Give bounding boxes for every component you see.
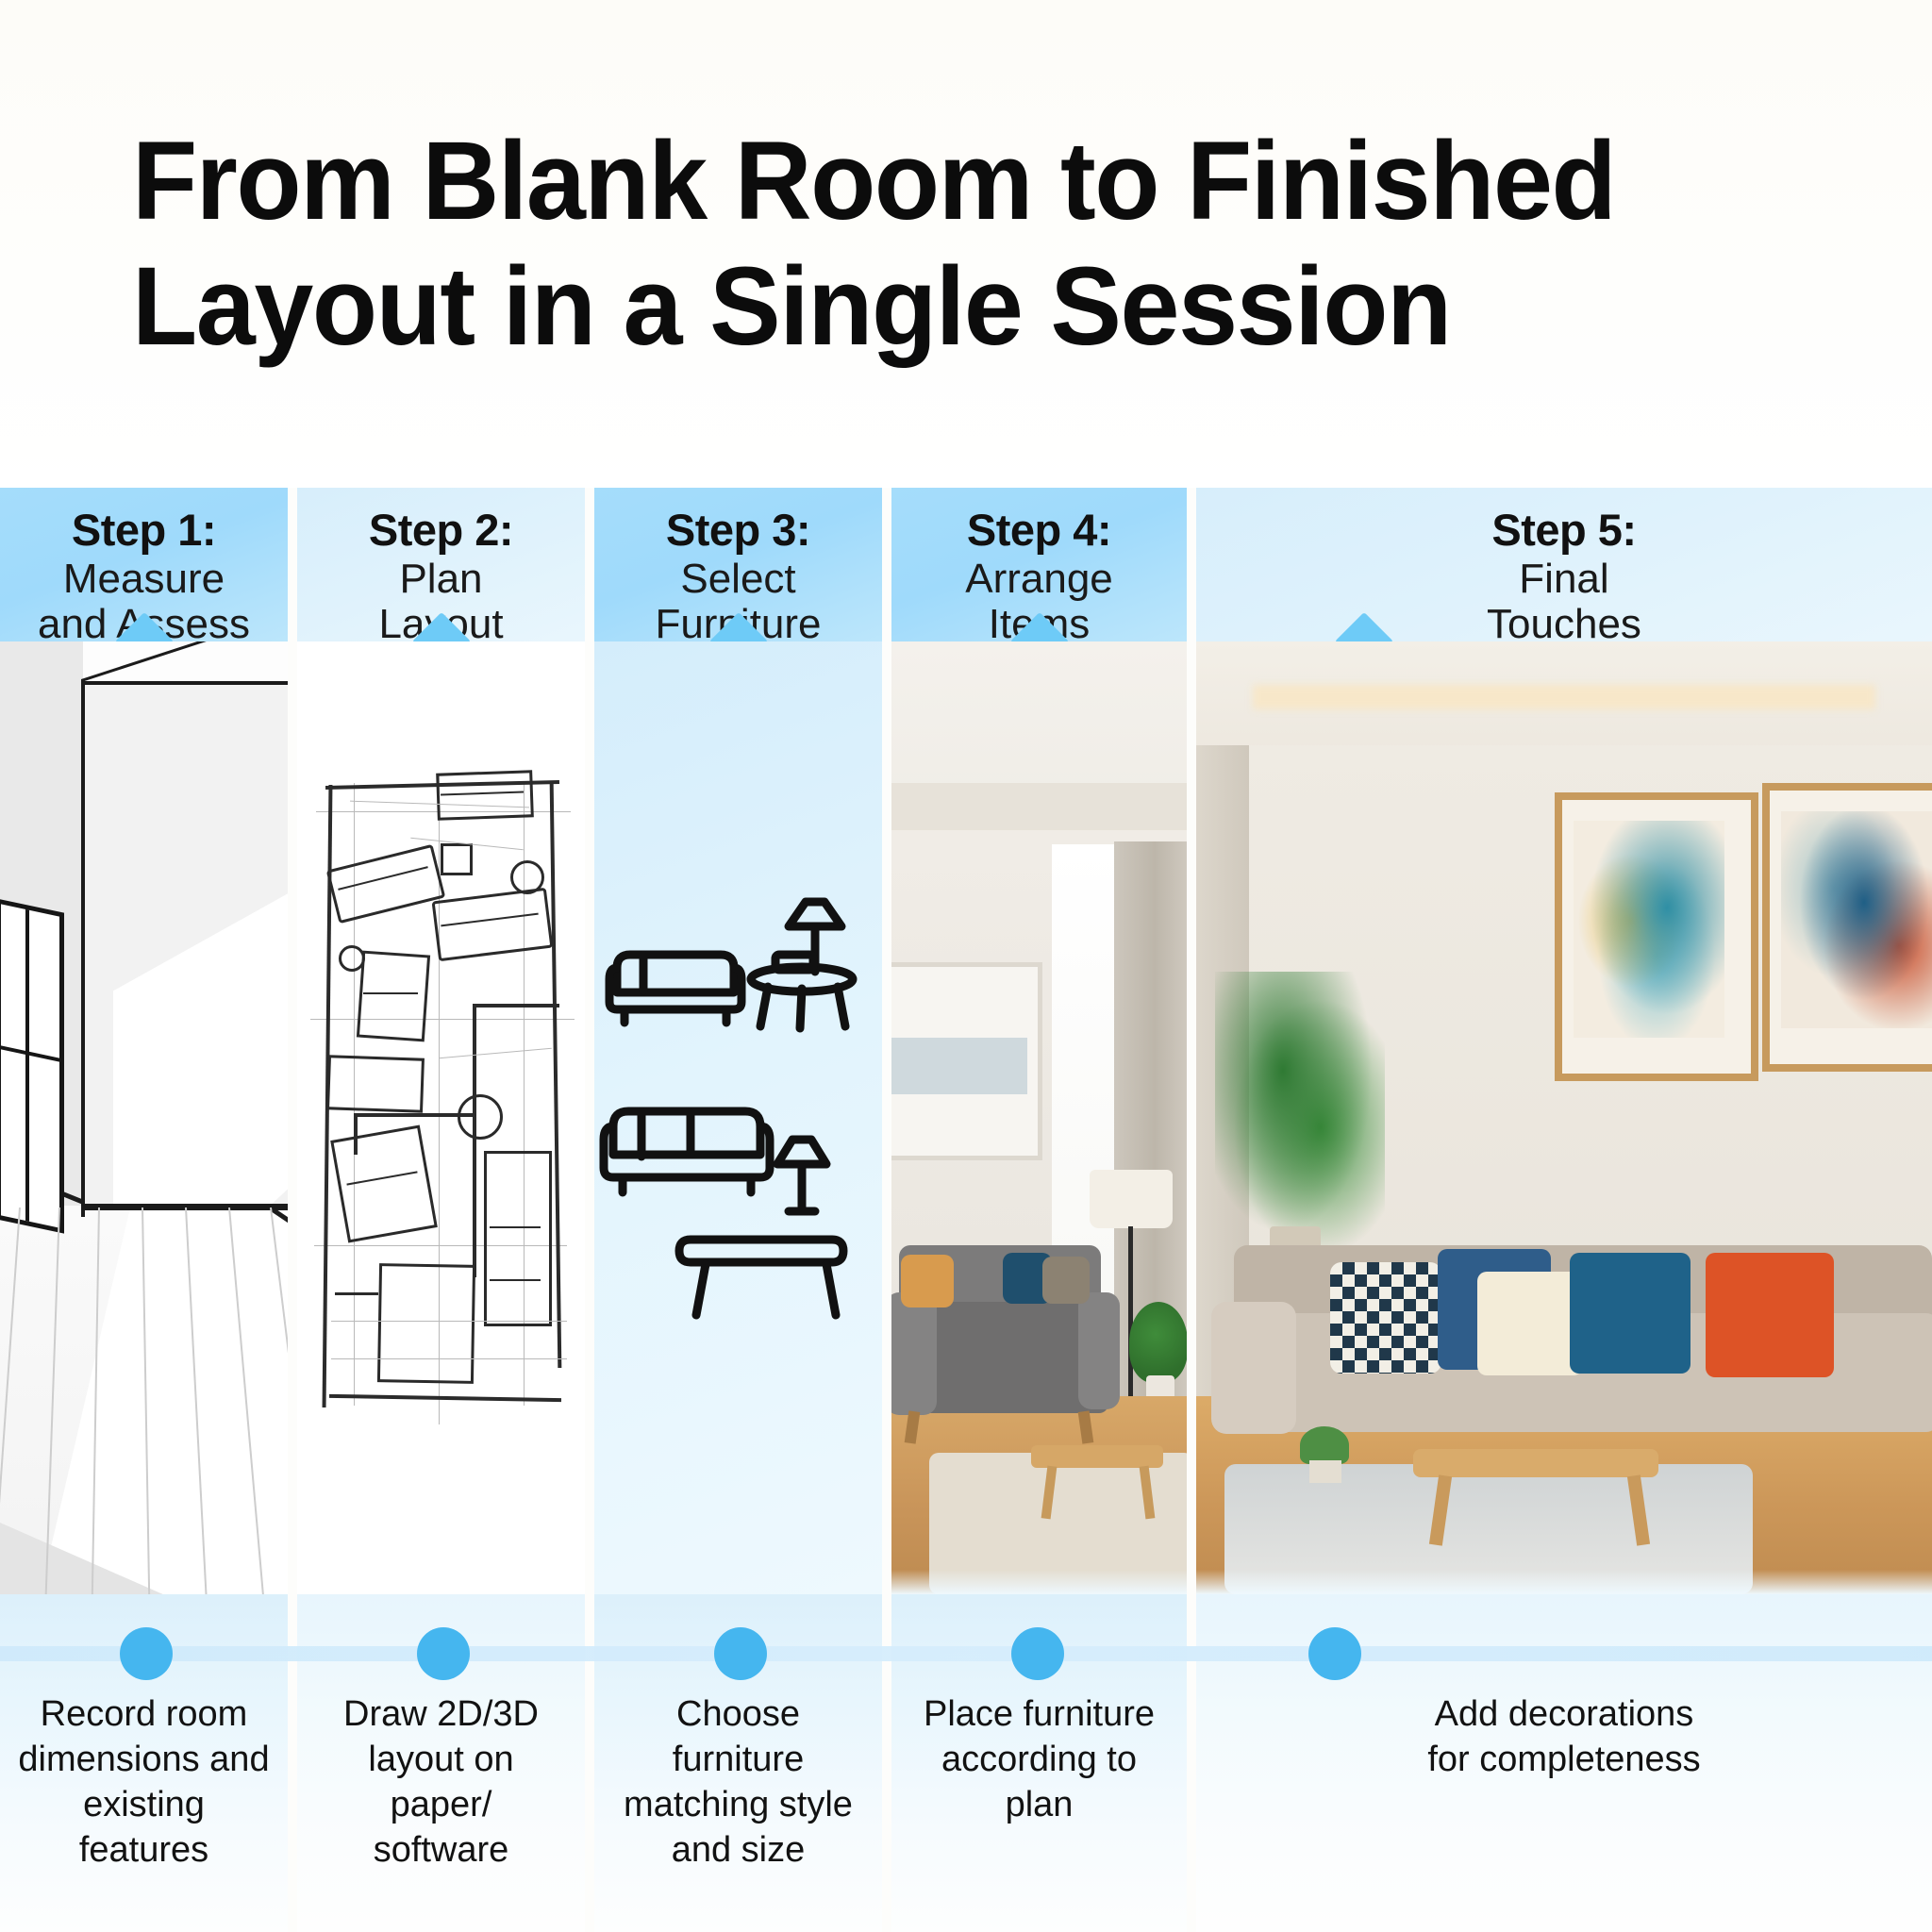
floor-plan-sketch	[297, 641, 585, 1594]
furniture-icons-svg	[594, 641, 882, 1594]
step-caption-band-5: Add decorations for completeness	[1196, 1594, 1932, 1932]
step-visual-5	[1196, 641, 1932, 1594]
timeline-dot-5[interactable]	[1308, 1627, 1361, 1680]
step-caption-2: Draw 2D/3D layout on paper/ software	[297, 1692, 585, 1874]
step-number-3: Step 3:	[666, 507, 810, 553]
furniture-icon-panel	[594, 641, 882, 1594]
infographic-root: From Blank Room to Finished Layout in a …	[0, 0, 1932, 1932]
sofa-icon	[609, 955, 741, 1023]
step-caption-1: Record room dimensions and existing feat…	[0, 1692, 288, 1874]
step-visual-3	[594, 641, 882, 1594]
window-icon	[0, 898, 64, 1233]
title-banner: From Blank Room to Finished Layout in a …	[0, 0, 1932, 488]
step-header-2: Step 2: Plan Layout	[297, 488, 585, 641]
step-header-1: Step 1: Measure and Assess	[0, 488, 288, 641]
step-number-5: Step 5:	[1491, 507, 1636, 553]
step-caption-5: Add decorations for completeness	[1196, 1692, 1932, 1783]
large-sofa-icon	[604, 1111, 770, 1192]
step-name-5: Final Touches	[1487, 557, 1641, 646]
step-number-2: Step 2:	[369, 507, 513, 553]
step-visual-1	[0, 641, 288, 1594]
step-number-4: Step 4:	[967, 507, 1111, 553]
step-caption-4: Place furniture according to plan	[891, 1692, 1187, 1828]
table-lamp-small-icon	[777, 1140, 826, 1211]
step-header-5: Step 5: Final Touches	[1196, 488, 1932, 641]
step-number-1: Step 1:	[72, 507, 216, 553]
photo-decorated-living-room	[1196, 641, 1932, 1594]
step-column-1[interactable]: Step 1: Measure and Assess	[0, 488, 288, 1932]
timeline-dot-2[interactable]	[417, 1627, 470, 1680]
timeline-dot-1[interactable]	[120, 1627, 173, 1680]
coffee-table-icon	[679, 1240, 843, 1315]
page-title: From Blank Room to Finished Layout in a …	[132, 119, 1751, 368]
step-visual-4	[891, 641, 1187, 1594]
steps-row: Step 1: Measure and Assess	[0, 488, 1932, 1932]
step-header-3: Step 3: Select Furniture	[594, 488, 882, 641]
table-lamp-icon	[751, 902, 853, 1028]
step-caption-3: Choose furniture matching style and size	[594, 1692, 882, 1874]
step-column-3[interactable]: Step 3: Select Furniture	[594, 488, 882, 1932]
step-visual-2	[297, 641, 585, 1594]
step-header-4: Step 4: Arrange Items	[891, 488, 1187, 641]
blank-room-line-drawing	[0, 641, 288, 1594]
step-column-2[interactable]: Step 2: Plan Layout	[297, 488, 585, 1932]
timeline-dot-3[interactable]	[714, 1627, 767, 1680]
step-column-5[interactable]: Step 5: Final Touches	[1196, 488, 1932, 1932]
step-column-4[interactable]: Step 4: Arrange Items	[891, 488, 1187, 1932]
timeline-dot-4[interactable]	[1011, 1627, 1064, 1680]
timeline-line	[0, 1646, 1932, 1661]
photo-arranged-living-room	[891, 641, 1187, 1594]
